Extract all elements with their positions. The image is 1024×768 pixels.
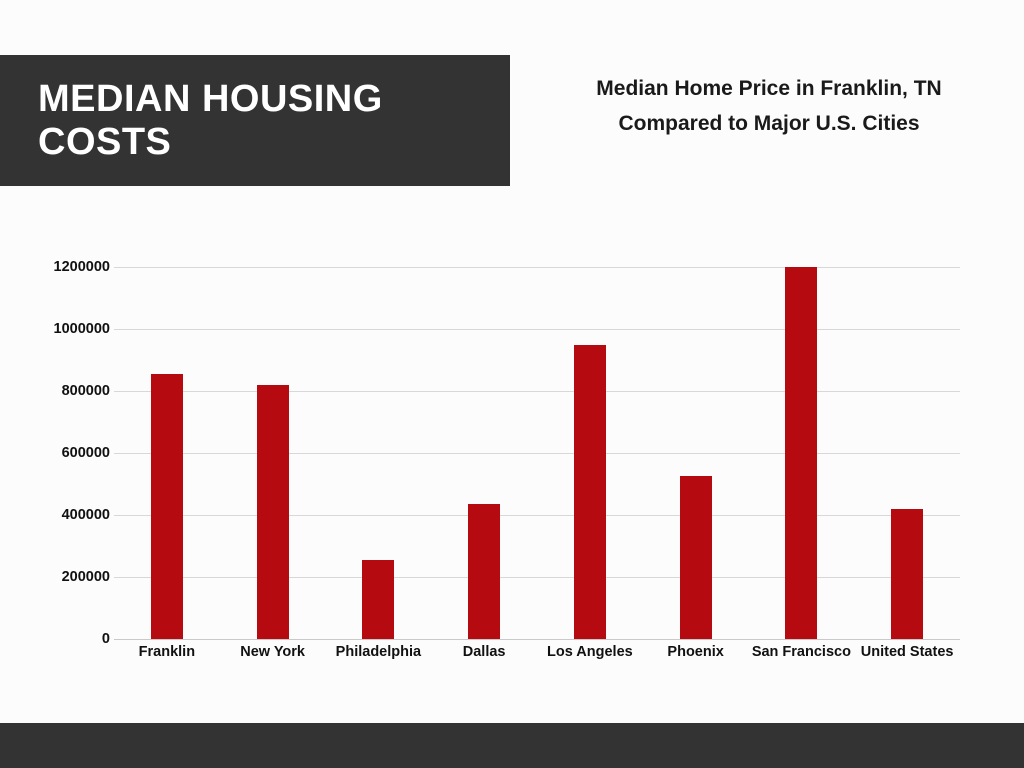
x-axis-tick-label: Dallas <box>463 644 506 660</box>
title-block: MEDIAN HOUSING COSTS <box>0 55 510 186</box>
x-axis: FranklinNew YorkPhiladelphiaDallasLos An… <box>114 644 960 670</box>
bar[interactable] <box>574 345 606 640</box>
y-axis-tick-label: 0 <box>10 631 110 647</box>
x-axis-tick-label: New York <box>240 644 305 660</box>
footer-bar <box>0 723 1024 768</box>
y-axis-tick-label: 400000 <box>10 507 110 523</box>
x-axis-tick-label: San Francisco <box>752 644 851 660</box>
y-axis-tick-label: 1200000 <box>10 259 110 275</box>
bar[interactable] <box>891 509 923 639</box>
x-axis-tick-label: Los Angeles <box>547 644 633 660</box>
y-axis-tick-label: 600000 <box>10 445 110 461</box>
bar-series <box>114 267 960 639</box>
bar-slot <box>537 267 643 639</box>
x-axis-tick-label: United States <box>861 644 954 660</box>
page-title: MEDIAN HOUSING COSTS <box>0 78 510 163</box>
y-axis-tick-label: 800000 <box>10 383 110 399</box>
x-axis-tick-label: Phoenix <box>667 644 723 660</box>
bar[interactable] <box>362 560 394 639</box>
bar[interactable] <box>257 385 289 639</box>
bar-slot <box>643 267 749 639</box>
y-axis-tick-label: 200000 <box>10 569 110 585</box>
y-axis-tick-label: 1000000 <box>10 321 110 337</box>
bar[interactable] <box>785 267 817 639</box>
bar-slot <box>431 267 537 639</box>
bar[interactable] <box>468 504 500 639</box>
bar-slot <box>220 267 326 639</box>
subtitle-block: Median Home Price in Franklin, TN Compar… <box>560 72 978 141</box>
bar-chart: 020000040000060000080000010000001200000 … <box>0 240 1024 680</box>
bar[interactable] <box>680 476 712 639</box>
axis-baseline <box>114 639 960 640</box>
bar[interactable] <box>151 374 183 639</box>
bar-slot <box>749 267 855 639</box>
y-axis: 020000040000060000080000010000001200000 <box>0 267 110 639</box>
bar-slot <box>114 267 220 639</box>
chart-subtitle: Median Home Price in Franklin, TN Compar… <box>560 72 978 141</box>
x-axis-tick-label: Franklin <box>139 644 195 660</box>
bar-slot <box>326 267 432 639</box>
x-axis-tick-label: Philadelphia <box>336 644 421 660</box>
bar-slot <box>854 267 960 639</box>
